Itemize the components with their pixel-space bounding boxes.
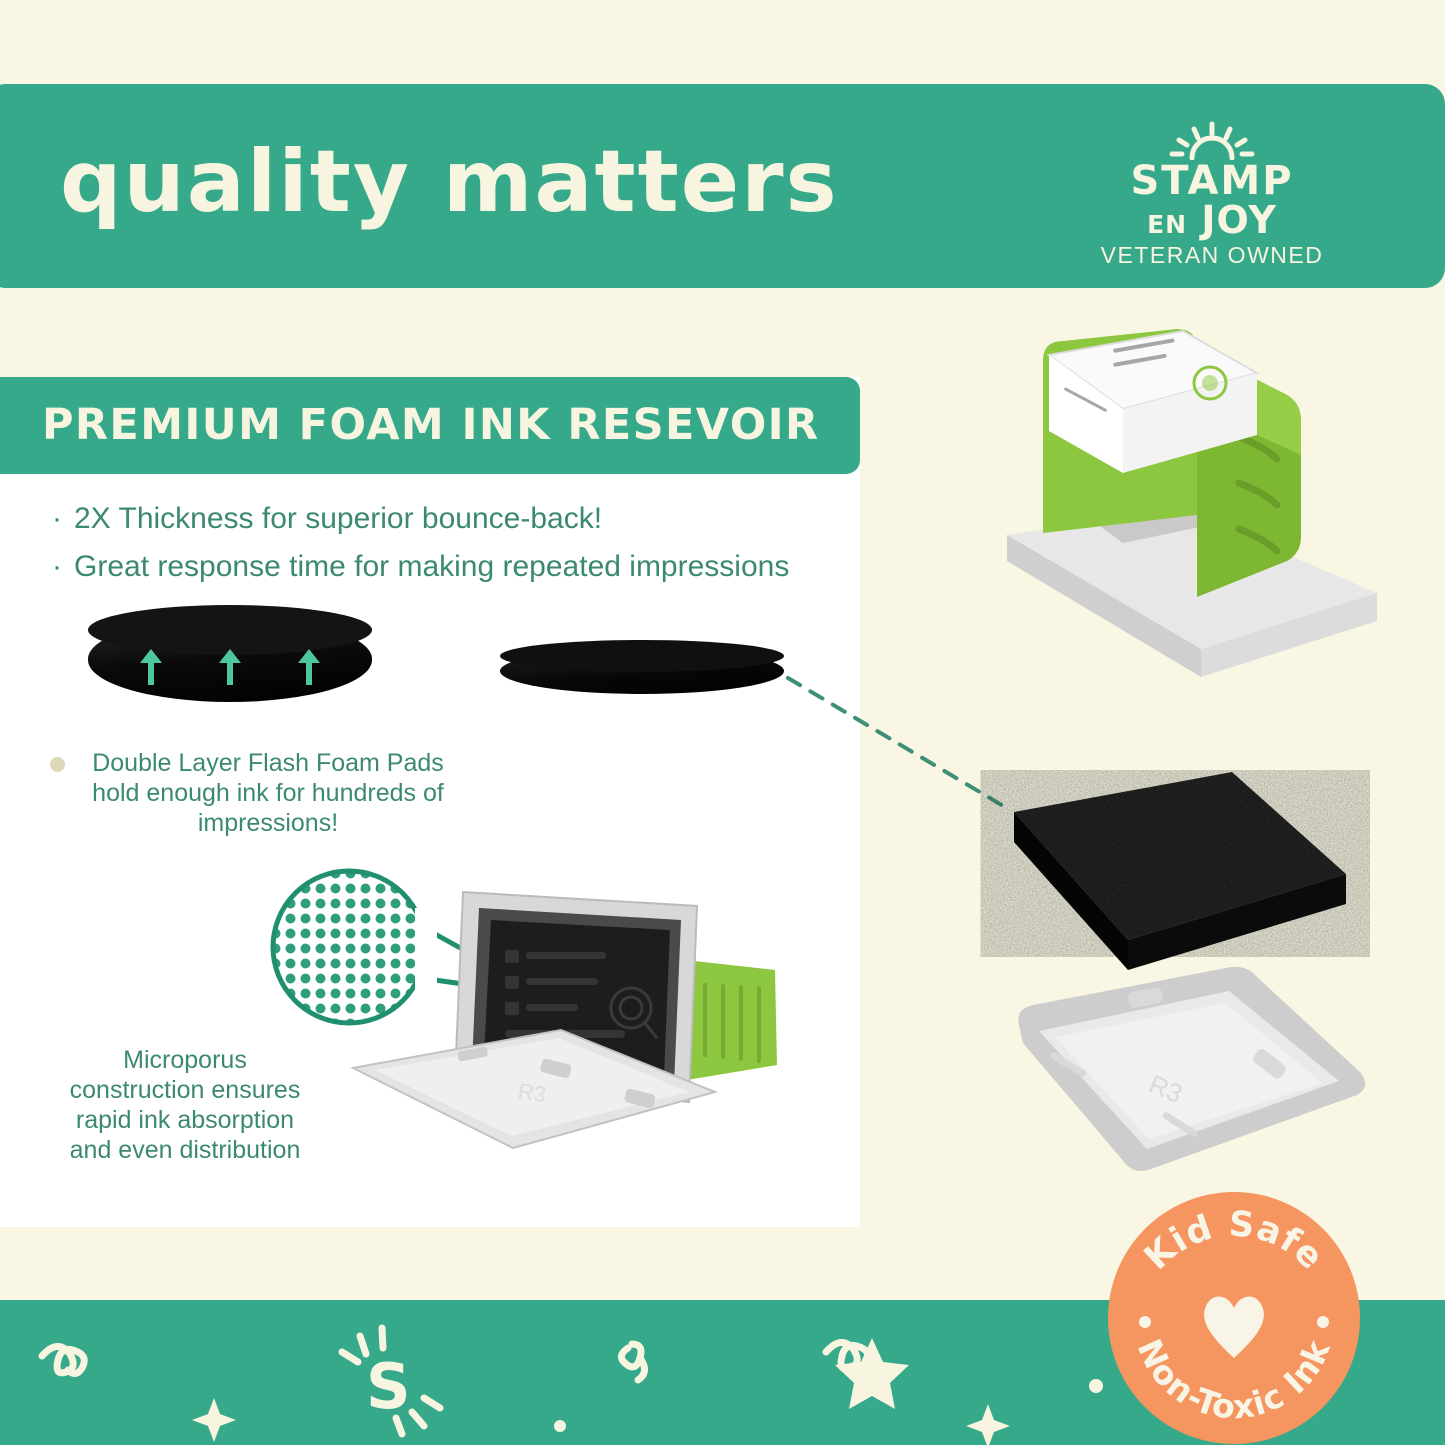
badge-dot-icon <box>1317 1316 1329 1328</box>
badge-dot-icon <box>1139 1316 1151 1328</box>
logo-joy: JOY <box>1201 198 1277 242</box>
up-arrow-icon <box>140 645 162 685</box>
curl-doodle <box>621 1344 644 1380</box>
stamp-product-photo <box>1005 325 1385 725</box>
logo-line-enjoy: EN JOY <box>1097 201 1327 239</box>
thin-foam-pad-diagram <box>500 648 784 694</box>
dot-doodle <box>1089 1379 1103 1393</box>
bullet-dot-icon <box>50 757 65 772</box>
foam-caption-text: Double Layer Flash Foam Pads hold enough… <box>92 749 444 837</box>
stamp-base <box>1007 507 1377 677</box>
grey-tray-photo: R3 <box>975 965 1375 1200</box>
letter-s-doodle: S <box>366 1350 411 1423</box>
feature-card-header: PREMIUM FOAM INK RESEVOIR <box>0 377 860 474</box>
page-headline: quality matters <box>60 132 839 232</box>
logo-en: EN <box>1147 210 1187 239</box>
bullet-item: 2X Thickness for superior bounce-back! <box>52 495 789 543</box>
svg-text:Kid Safe: Kid Safe <box>1137 1204 1331 1278</box>
black-foam-pad-photo <box>970 770 1370 985</box>
bullet-item: Great response time for making repeated … <box>52 543 789 591</box>
feature-bullet-list: 2X Thickness for superior bounce-back! G… <box>52 495 789 591</box>
up-arrow-icon <box>219 645 241 685</box>
up-arrow-icon <box>298 645 320 685</box>
microporous-caption: Microporus construction ensures rapid in… <box>60 1045 310 1165</box>
thick-foam-pad-diagram <box>88 617 372 702</box>
four-point-star-doodle <box>192 1398 236 1442</box>
opened-stamp-photo: R3 <box>345 880 845 1180</box>
heart-icon <box>1204 1296 1264 1358</box>
logo-line-stamp: STAMP <box>1097 162 1327 201</box>
badge-top-text: Kid Safe <box>1137 1204 1331 1278</box>
dot-doodle <box>554 1420 566 1432</box>
thin-foam-pad-top <box>500 640 784 672</box>
brand-logo: STAMP EN JOY VETERAN OWNED <box>1097 120 1327 269</box>
sun-icon <box>1152 120 1272 160</box>
svg-text:R3: R3 <box>516 1078 548 1107</box>
foam-pad-caption: Double Layer Flash Foam Pads hold enough… <box>78 748 458 838</box>
section-title: PREMIUM FOAM INK RESEVOIR <box>42 400 820 450</box>
stamp-green-handle <box>685 960 777 1080</box>
squiggle-doodle <box>42 1346 84 1373</box>
kid-safe-badge: Kid Safe Non-Toxic Ink <box>1108 1192 1360 1444</box>
four-point-star-doodle <box>966 1404 1010 1445</box>
logo-tagline: VETERAN OWNED <box>1097 242 1327 269</box>
